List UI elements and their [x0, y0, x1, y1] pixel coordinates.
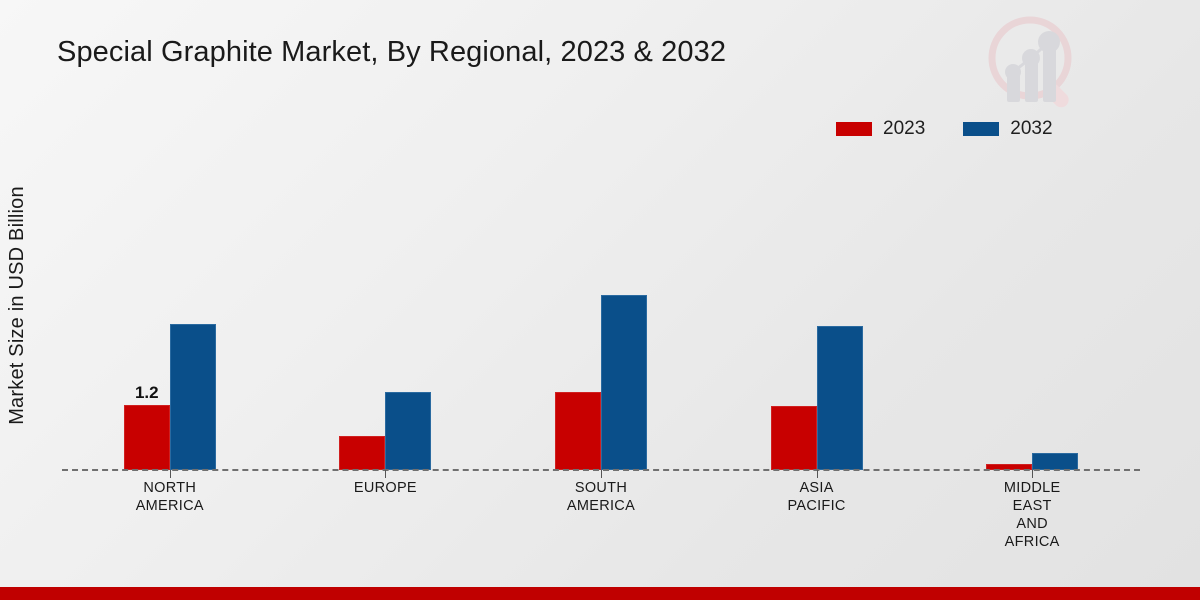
y-axis-title-text: Market Size in USD Billion [6, 186, 29, 425]
label-line: PACIFIC [709, 497, 925, 515]
x-axis-label-asia-pacific: ASIA PACIFIC [709, 479, 925, 551]
bar-2023-europe[interactable] [339, 436, 385, 470]
label-line: AND [924, 515, 1140, 533]
bottom-accent-strip [0, 587, 1200, 600]
legend-swatch-2023 [836, 122, 872, 136]
chart-title: Special Graphite Market, By Regional, 20… [57, 34, 726, 70]
bar-2023-asia-pacific[interactable] [771, 406, 817, 470]
y-axis-title: Market Size in USD Billion [0, 140, 34, 470]
x-axis-label-europe: EUROPE [278, 479, 494, 551]
label-line: AMERICA [493, 497, 709, 515]
bar-chart-icon [1005, 31, 1060, 102]
label-line: ASIA [709, 479, 925, 497]
chart-container: Special Graphite Market, By Regional, 20… [0, 0, 1200, 600]
chart-legend: 2023 2032 [836, 119, 1053, 138]
label-line: SOUTH [493, 479, 709, 497]
bar-group-europe [278, 150, 494, 470]
label-line: AMERICA [62, 497, 278, 515]
label-line: AFRICA [924, 533, 1140, 551]
bar-2032-south-america[interactable] [601, 295, 647, 470]
legend-swatch-2032 [963, 122, 999, 136]
bar-group-south-america [493, 150, 709, 470]
legend-item-2023[interactable]: 2023 [836, 119, 925, 138]
x-axis-label-middle-east-and-africa: MIDDLE EAST AND AFRICA [924, 479, 1140, 551]
x-axis-labels: NORTH AMERICA EUROPE SOUTH AMERICA ASIA … [62, 479, 1140, 551]
legend-item-2032[interactable]: 2032 [963, 119, 1052, 138]
label-line: EAST [924, 497, 1140, 515]
legend-label-2032: 2032 [1010, 119, 1052, 138]
bar-2032-middle-east-and-africa[interactable] [1032, 453, 1078, 470]
label-line: MIDDLE [924, 479, 1140, 497]
bar-2032-europe[interactable] [385, 392, 431, 470]
legend-label-2023: 2023 [883, 119, 925, 138]
bar-group-middle-east-and-africa [924, 150, 1140, 470]
watermark-logo [978, 12, 1088, 116]
bar-group-north-america: 1.2 [62, 150, 278, 470]
plot-area: 1.2 [62, 150, 1140, 470]
magnifier-icon [992, 20, 1072, 110]
bar-2032-asia-pacific[interactable] [817, 326, 863, 470]
bar-2023-south-america[interactable] [555, 392, 601, 470]
bar-2032-north-america[interactable] [170, 324, 216, 470]
label-line: EUROPE [278, 479, 494, 497]
bar-value-label: 1.2 [135, 383, 159, 403]
label-line: NORTH [62, 479, 278, 497]
x-axis-label-south-america: SOUTH AMERICA [493, 479, 709, 551]
bar-group-asia-pacific [709, 150, 925, 470]
x-axis-label-north-america: NORTH AMERICA [62, 479, 278, 551]
bar-2023-north-america[interactable]: 1.2 [124, 405, 170, 470]
